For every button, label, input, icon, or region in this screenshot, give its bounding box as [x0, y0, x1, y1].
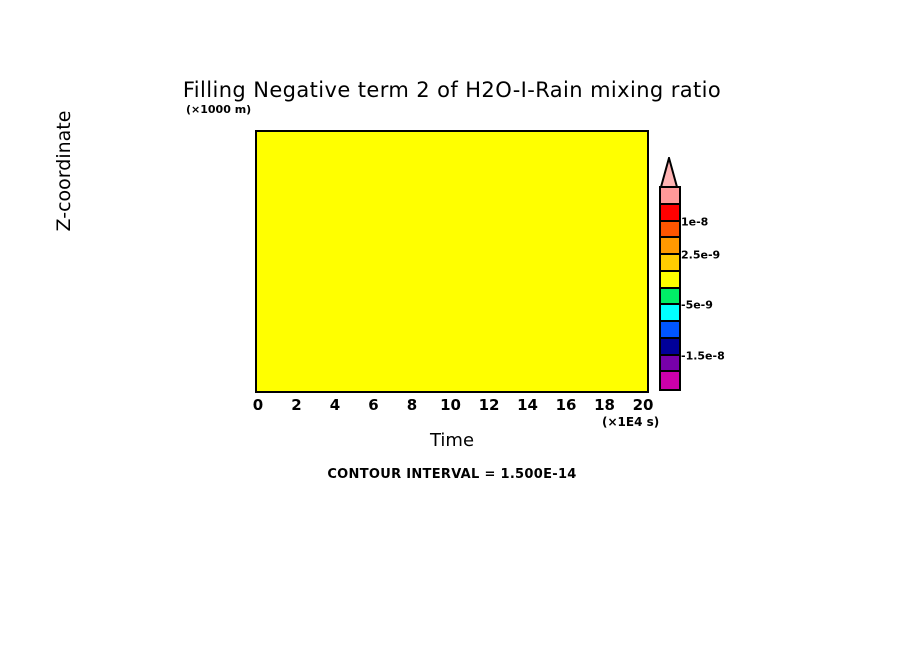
colorbar-arrow-icon	[657, 157, 681, 188]
x-tick-label: 10	[431, 396, 471, 414]
x-tick-label: 2	[277, 396, 317, 414]
x-tick-label: 6	[354, 396, 394, 414]
x-tick-label: 18	[585, 396, 625, 414]
x-tick-label: 4	[315, 396, 355, 414]
colorbar-tick-label: 2.5e-9	[681, 249, 720, 262]
plot-area	[255, 130, 649, 393]
colorbar-tick-label: -1.5e-8	[681, 349, 725, 362]
contour-interval-caption: CONTOUR INTERVAL = 1.500E-14	[0, 467, 904, 482]
colorbar-band	[661, 339, 679, 356]
x-tick-label: 16	[546, 396, 586, 414]
colorbar-band	[661, 188, 679, 205]
colorbar-band	[661, 205, 679, 222]
x-tick-label: 8	[392, 396, 432, 414]
colorbar-band	[661, 238, 679, 255]
x-tick-label: 12	[469, 396, 509, 414]
colorbar-band	[661, 356, 679, 373]
x-tick-label: 0	[238, 396, 278, 414]
colorbar-band	[661, 322, 679, 339]
colorbar-tick-label: -5e-9	[681, 299, 713, 312]
colorbar-band	[661, 305, 679, 322]
x-axis-unit-label: (×1E4 s)	[602, 415, 659, 429]
colorbar-band	[661, 255, 679, 272]
colorbar-tick-label: 1e-8	[681, 215, 708, 228]
colorbar-band	[661, 289, 679, 306]
colorbar[interactable]	[659, 186, 681, 391]
x-axis-title: Time	[255, 430, 649, 451]
colorbar-band	[661, 222, 679, 239]
colorbar-band	[661, 272, 679, 289]
x-tick-label: 14	[508, 396, 548, 414]
y-axis-unit-label: (×1000 m)	[186, 103, 251, 116]
x-tick-label: 20	[623, 396, 663, 414]
plot-canvas: Filling Negative term 2 of H2O-I-Rain mi…	[0, 0, 904, 654]
colorbar-band	[661, 372, 679, 389]
page-title: Filling Negative term 2 of H2O-I-Rain mi…	[0, 78, 904, 102]
y-axis-title: Z-coordinate	[53, 71, 75, 271]
